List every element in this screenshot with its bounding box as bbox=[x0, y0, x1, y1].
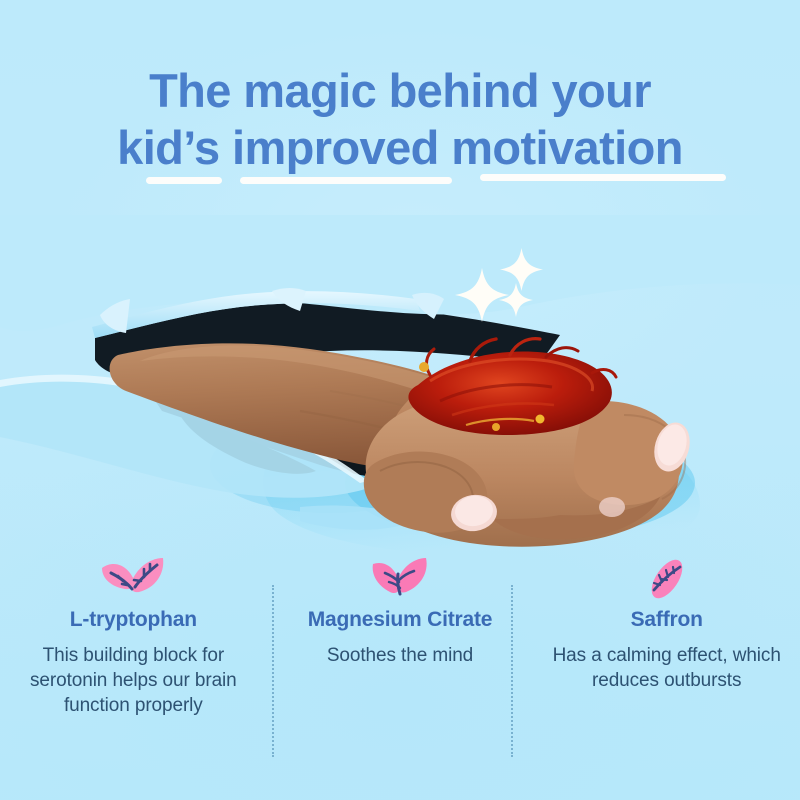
ingredient-column-saffron: Saffron Has a calming effect, which redu… bbox=[533, 552, 800, 782]
ingredient-list: L-tryptophan This building block for ser… bbox=[0, 552, 800, 782]
two-leaf-sprout-icon bbox=[97, 552, 169, 604]
sparkle-icon bbox=[499, 283, 533, 317]
headline-line-1: The magic behind your bbox=[149, 64, 651, 117]
hero-hand-image bbox=[0, 215, 800, 560]
single-leaf-icon bbox=[640, 552, 694, 604]
sprout-leaf-icon bbox=[369, 552, 431, 604]
ingredient-description: Has a calming effect, which reduces outb… bbox=[545, 643, 788, 694]
ingredient-column-l-tryptophan: L-tryptophan This building block for ser… bbox=[0, 552, 267, 782]
ingredient-title: Saffron bbox=[631, 608, 703, 632]
ingredient-description: This building block for serotonin helps … bbox=[12, 643, 255, 719]
headline-underline-segment-1 bbox=[146, 177, 222, 184]
headline-line-2: kid’s improved motivation bbox=[26, 119, 774, 176]
ingredient-title: L-tryptophan bbox=[70, 608, 197, 632]
ingredient-column-magnesium-citrate: Magnesium Citrate Soothes the mind bbox=[267, 552, 534, 782]
headline-underline-segment-3 bbox=[480, 174, 726, 181]
ingredient-title: Magnesium Citrate bbox=[308, 608, 492, 632]
headline-underline-segment-2 bbox=[240, 177, 452, 184]
promo-poster: The magic behind your kid’s improved mot… bbox=[0, 0, 800, 800]
ingredient-description: Soothes the mind bbox=[327, 643, 473, 668]
page-title: The magic behind your kid’s improved mot… bbox=[0, 62, 800, 177]
